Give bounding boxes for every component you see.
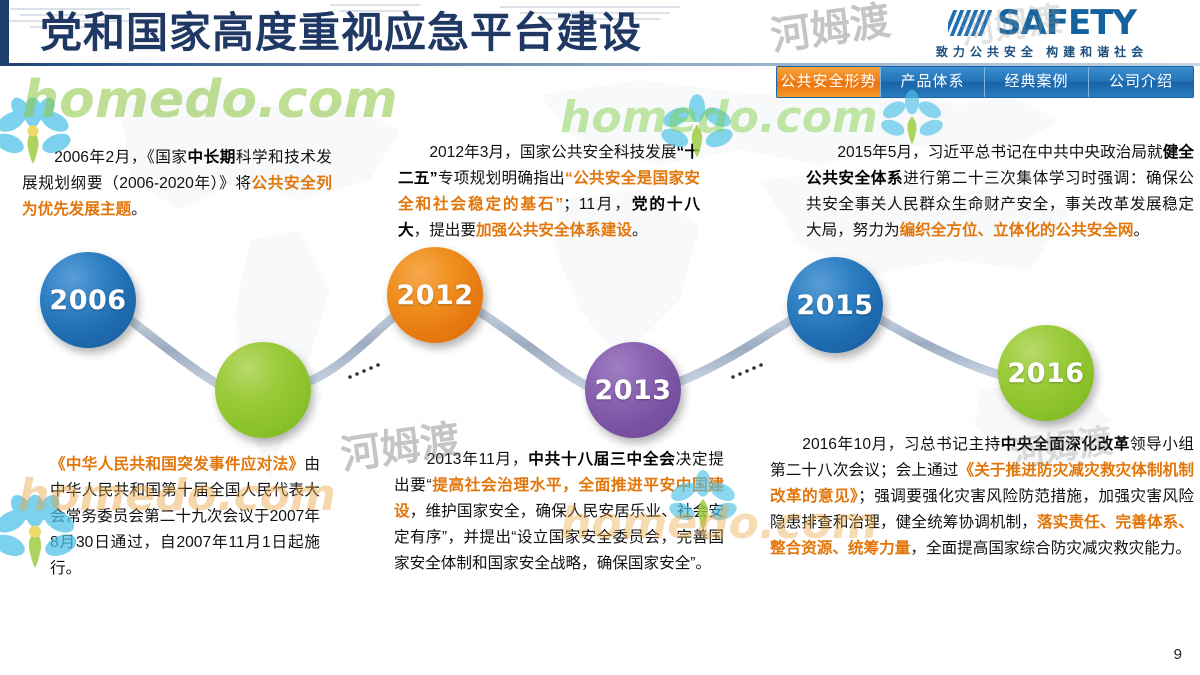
text-run-highlight: 加强公共安全体系建设 [476, 222, 632, 239]
logo-wordmark: SAFETY [997, 6, 1136, 40]
timeline-node-2016[interactable]: 2016 [998, 325, 1094, 421]
text-run-plain: 专项规划明确指出 [438, 170, 565, 187]
text-run-plain: 由中华人民共和国第十届全国人民代表大会常务委员会第二十九次会议于2007年8月3… [50, 456, 320, 577]
watermark-homedo-mid: homedo.com [560, 92, 878, 143]
timeline-node-2006[interactable]: 2006 [40, 252, 136, 348]
slide-root: 党和国家高度重视应急平台建设 SAFETY 致力公共安全 构建和谐社会 公共安全… [0, 0, 1200, 675]
timeline-node-2007[interactable] [215, 342, 311, 438]
nav-item-product-system[interactable]: 产品体系 [881, 67, 985, 97]
text-run-plain: 2006年2月，《国家 [22, 149, 187, 166]
header-left-accent-bar [0, 0, 9, 66]
timeline-node-2015[interactable]: 2015 [787, 257, 883, 353]
text-run-bold: 中央全面深化改革 [1001, 436, 1130, 453]
section-nav[interactable]: 公共安全形势 产品体系 经典案例 公司介绍 [776, 66, 1194, 98]
text-run-bold: 中共十八届三中全会 [528, 451, 675, 468]
text-block-2016: 2016年10月，习总书记主持中央全面深化改革领导小组第二十八次会议；会上通过《… [770, 432, 1194, 562]
slide-header: 党和国家高度重视应急平台建设 SAFETY 致力公共安全 构建和谐社会 [0, 0, 1200, 66]
nav-item-company-intro[interactable]: 公司介绍 [1089, 67, 1193, 97]
text-run-plain: 。 [1134, 222, 1150, 239]
page-title: 党和国家高度重视应急平台建设 [40, 6, 642, 60]
timeline-node-2012[interactable]: 2012 [387, 247, 483, 343]
watermark-homedo-top: homedo.com [22, 70, 398, 130]
text-run-bold: 中长期 [187, 149, 235, 166]
timeline-node-2013[interactable]: 2013 [585, 342, 681, 438]
text-run-plain: ，提出要 [414, 222, 476, 239]
text-block-2012: 2012年3月，国家公共安全科技发展“十二五”专项规划明确指出“公共安全是国家安… [398, 140, 700, 244]
text-run-highlight: 《中华人民共和国突发事件应对法》 [50, 456, 304, 473]
nav-item-public-safety-situation[interactable]: 公共安全形势 [777, 67, 881, 97]
text-run-plain: 。 [632, 222, 648, 239]
logo-tagline: 致力公共安全 构建和谐社会 [892, 43, 1192, 60]
speed-stripes-icon [948, 10, 992, 36]
text-block-2006: 2006年2月，《国家中长期科学和技术发展规划纲要（2006-2020年）》将公… [22, 145, 332, 223]
company-logo: SAFETY 致力公共安全 构建和谐社会 [892, 4, 1192, 62]
text-run-plain: 。 [131, 201, 147, 218]
text-block-2015: 2015年5月，习近平总书记在中共中央政治局就健全公共安全体系进行第二十三次集体… [806, 140, 1194, 244]
text-run-plain: ；11月， [563, 196, 632, 213]
text-run-plain: 2015年5月，习近平总书记在中共中央政治局就 [806, 144, 1163, 161]
text-block-2007-law: 《中华人民共和国突发事件应对法》由中华人民共和国第十届全国人民代表大会常务委员会… [50, 452, 320, 582]
text-run-plain: 2012年3月，国家公共安全科技发展 [398, 144, 677, 161]
text-run-plain: ，维护国家安全，确保人民安居乐业、社会安定有序”，并提出“设立国家安全委员会，完… [394, 503, 724, 572]
text-run-highlight: 编织全方位、立体化的公共安全网 [900, 222, 1134, 239]
text-run-plain: 2013年11月， [394, 451, 528, 468]
text-run-plain: ，全面提高国家综合防灾减灾救灾能力。 [910, 540, 1191, 557]
nav-item-classic-cases[interactable]: 经典案例 [985, 67, 1089, 97]
text-run-plain: 2016年10月，习总书记主持 [770, 436, 1001, 453]
page-number: 9 [1174, 646, 1182, 663]
text-block-2013: 2013年11月，中共十八届三中全会决定提出要“提高社会治理水平，全面推进平安中… [394, 447, 724, 577]
